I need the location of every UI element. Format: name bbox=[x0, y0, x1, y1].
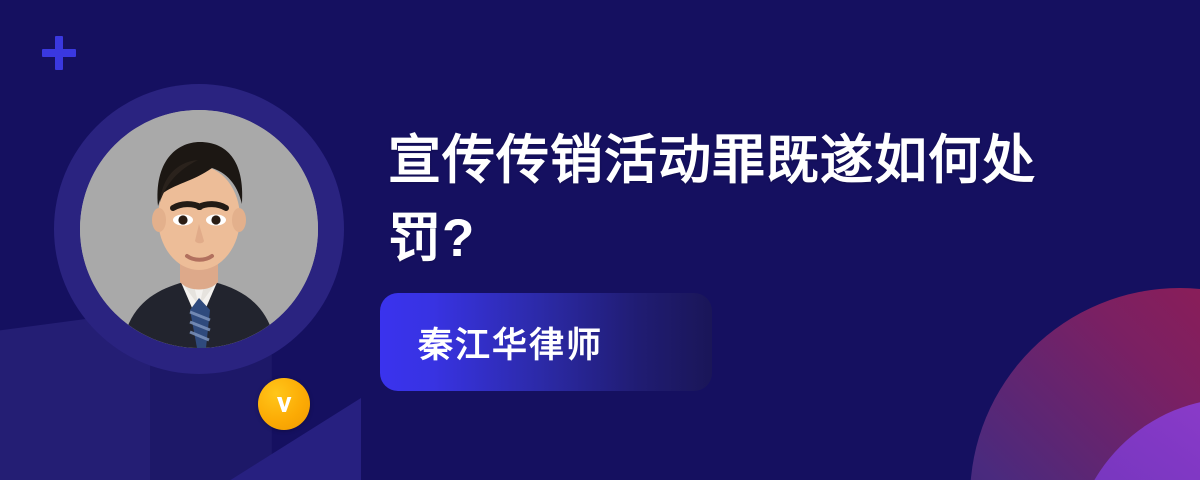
plus-icon bbox=[42, 36, 76, 70]
verified-v-icon bbox=[258, 378, 310, 430]
page-title: 宣传传销活动罪既遂如何处罚? bbox=[388, 122, 1088, 278]
decor-circle-crimson bbox=[970, 288, 1200, 480]
author-name-badge[interactable]: 秦江华律师 bbox=[380, 293, 712, 391]
avatar-photo bbox=[80, 110, 318, 348]
headline-block: 宣传传销活动罪既遂如何处罚? bbox=[388, 122, 1088, 278]
decor-circle-purple bbox=[1072, 398, 1200, 480]
author-name-label: 秦江华律师 bbox=[380, 317, 603, 368]
legal-qa-banner: 宣传传销活动罪既遂如何处罚? 秦江华律师 bbox=[0, 0, 1200, 480]
avatar bbox=[54, 84, 344, 374]
